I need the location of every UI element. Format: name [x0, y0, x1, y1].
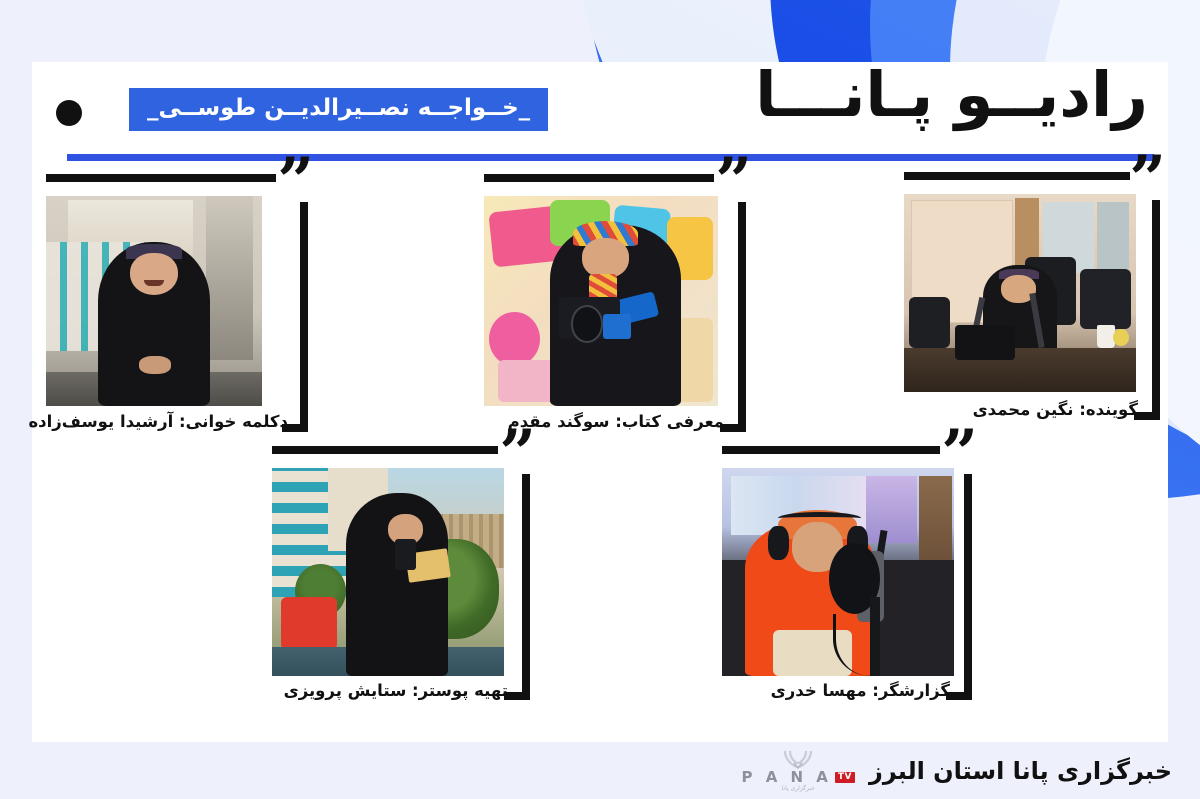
frame-top-bar — [272, 446, 498, 454]
pana-logo-subtext: خبرگزاری پانا — [782, 786, 815, 792]
quote-mark-icon: ” — [277, 150, 314, 214]
photo-sogand-moghaddam[interactable] — [484, 196, 718, 406]
photo-card-3[interactable]: ” گوینده: نگین محمدی — [904, 172, 1160, 430]
footer-agency-name: خبرگزاری پانا استان البرز — [869, 757, 1172, 785]
frame-top-bar — [722, 446, 940, 454]
photo-caption-1: دکلمه خوانی: آرشیدا یوسف‌زاده — [28, 414, 288, 431]
photo-mahsa-khedri[interactable] — [722, 468, 954, 676]
photo-caption-4: تهیه پوستر: ستایش پرویزی — [284, 683, 508, 700]
photo-arshida-yousefzadeh[interactable] — [46, 196, 262, 406]
frame-right-bar — [522, 474, 530, 692]
photo-card-5[interactable]: ” گزارشگر: مهسا خدری — [722, 446, 972, 704]
quote-mark-icon: ” — [715, 150, 752, 214]
quote-mark-icon: ” — [499, 422, 536, 486]
photo-caption-2: معرفی کتاب: سوگند مقدم — [508, 414, 724, 431]
photo-card-1[interactable]: ” دکلمه خوانی: آرشیدا یوسف‌زاده — [46, 174, 308, 434]
photo-card-4[interactable]: ” تهیه پوستر: ستایش پرویزی — [272, 446, 530, 704]
poster-footer: خبرگزاری پانا استان البرز TV P A N A خبر… — [0, 742, 1200, 799]
photo-caption-5: گزارشگر: مهسا خدری — [771, 683, 950, 700]
photo-card-2[interactable]: ” معرفی کتاب: سوگند مقدم — [484, 174, 746, 434]
tv-badge: TV — [835, 772, 855, 783]
frame-top-bar — [484, 174, 714, 182]
photo-negin-mohammadi[interactable] — [904, 194, 1136, 392]
frame-right-bar — [300, 202, 308, 424]
poster-header: رادیــو پـانـــا _خــواجــه نصــیرالدیــ… — [32, 62, 1168, 150]
frame-right-bar — [738, 202, 746, 424]
header-subtitle-badge: _خــواجــه نصــیرالدیــن طوســی_ — [129, 88, 548, 131]
poster-card: رادیــو پـانـــا _خــواجــه نصــیرالدیــ… — [32, 62, 1168, 742]
photo-grid: ” دکلمه خوانی: آرشیدا یوسف‌زاده ” — [32, 174, 1168, 742]
header-divider — [67, 154, 1154, 161]
pana-logo[interactable]: TV P A N A خبرگزاری پانا — [741, 749, 855, 792]
frame-right-bar — [1152, 200, 1160, 412]
frame-right-bar — [964, 474, 972, 692]
poster-root: رادیــو پـانـــا _خــواجــه نصــیرالدیــ… — [0, 0, 1200, 799]
photo-caption-3: گوینده: نگین محمدی — [973, 402, 1138, 419]
frame-top-bar — [904, 172, 1130, 180]
frame-top-bar — [46, 174, 276, 182]
page-title: رادیــو پـانـــا — [755, 64, 1148, 126]
pana-wordmark: P A N A — [741, 770, 831, 785]
bullet-dot-icon — [56, 100, 82, 126]
photo-setayesh-parvizi[interactable] — [272, 468, 504, 676]
